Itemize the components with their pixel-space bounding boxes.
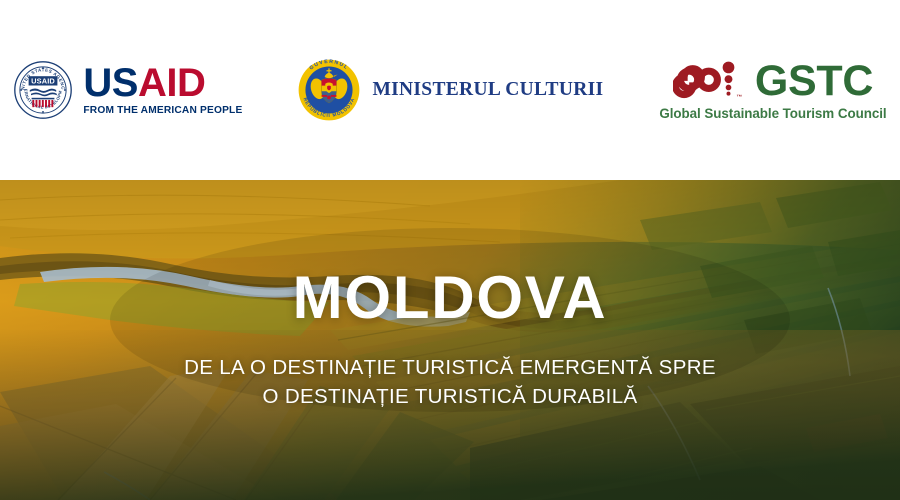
gstc-infinity-icon: ™ [673, 60, 747, 102]
moldova-government-seal-icon: GUVERNUL REPUBLICII MOLDOVA [298, 59, 360, 121]
ministerul-culturii-logo: GUVERNUL REPUBLICII MOLDOVA [298, 59, 603, 121]
gstc-logo: ™ GSTC Global Sustainable Tourism Counci… [659, 60, 886, 121]
svg-text:USAID: USAID [32, 77, 56, 86]
hero-text-block: MOLDOVA DE LA O DESTINAȚIE TURISTICĂ EME… [0, 180, 900, 500]
ministerul-culturii-wordmark: MINISTERUL CULTURII [372, 79, 603, 101]
partner-logo-bar: UNITED STATES AGENCY INTERNATIONAL DEVEL… [0, 0, 900, 180]
gstc-tagline: Global Sustainable Tourism Council [659, 106, 886, 121]
usaid-seal-icon: UNITED STATES AGENCY INTERNATIONAL DEVEL… [13, 60, 73, 120]
usaid-logo: UNITED STATES AGENCY INTERNATIONAL DEVEL… [13, 60, 242, 120]
gstc-trademark-mark: ™ [736, 94, 742, 100]
cover-page: UNITED STATES AGENCY INTERNATIONAL DEVEL… [0, 0, 900, 500]
page-subtitle: DE LA O DESTINAȚIE TURISTICĂ EMERGENTĂ S… [184, 353, 716, 411]
usaid-wordmark: USAID FROM THE AMERICAN PEOPLE [83, 64, 242, 117]
page-subtitle-line-2: O DESTINAȚIE TURISTICĂ DURABILĂ [184, 382, 716, 411]
usaid-tagline: FROM THE AMERICAN PEOPLE [83, 106, 242, 116]
usaid-word-primary: US [83, 61, 138, 105]
page-subtitle-line-1: DE LA O DESTINAȚIE TURISTICĂ EMERGENTĂ S… [184, 353, 716, 382]
page-title: MOLDOVA [293, 268, 608, 328]
gstc-wordmark: GSTC [755, 60, 873, 103]
hero-banner: MOLDOVA DE LA O DESTINAȚIE TURISTICĂ EME… [0, 180, 900, 500]
usaid-word-accent: AID [138, 61, 205, 105]
